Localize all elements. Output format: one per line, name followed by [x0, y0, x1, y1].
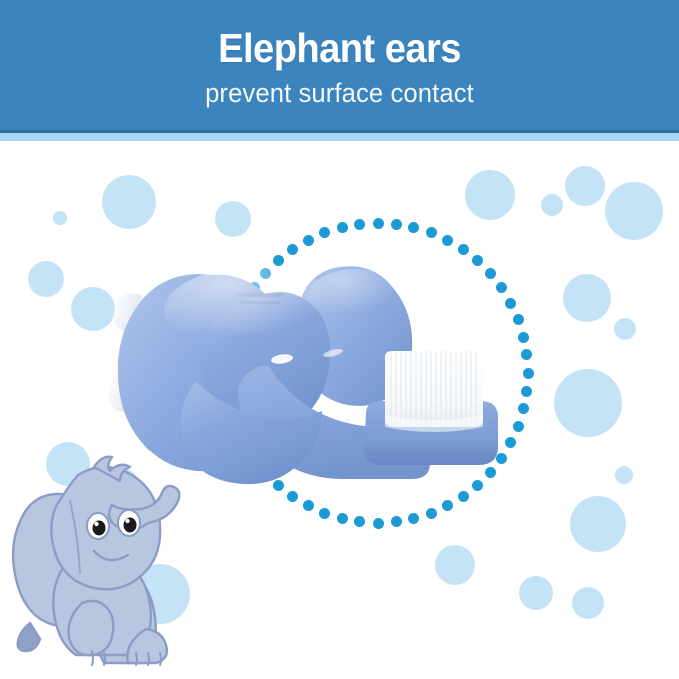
- background-bubble: [53, 211, 67, 225]
- background-bubble: [554, 369, 622, 437]
- header-text-group: Elephant ears prevent surface contact: [0, 0, 679, 130]
- background-bubble: [28, 261, 64, 297]
- background-bubble: [541, 194, 563, 216]
- background-bubble: [565, 166, 605, 206]
- background-bubble: [615, 466, 633, 484]
- background-bubble: [435, 545, 475, 585]
- page-subtitle: prevent surface contact: [205, 76, 474, 110]
- background-bubble: [605, 182, 663, 240]
- background-bubble: [572, 587, 604, 619]
- header-accent-stripe: [0, 133, 679, 141]
- background-bubble: [614, 318, 636, 340]
- product-feature-graphic: Elephant ears prevent surface contact: [0, 0, 679, 679]
- background-bubble: [215, 201, 251, 237]
- background-bubble: [465, 170, 515, 220]
- background-bubble: [570, 496, 626, 552]
- bristle-head: [385, 351, 483, 432]
- page-title: Elephant ears: [218, 24, 461, 72]
- background-bubble: [519, 576, 553, 610]
- background-bubble: [563, 274, 611, 322]
- illustration-stage: [0, 141, 679, 679]
- cartoon-elephant-mascot: [8, 453, 200, 679]
- header-banner: Elephant ears prevent surface contact: [0, 0, 679, 130]
- background-bubble: [102, 175, 156, 229]
